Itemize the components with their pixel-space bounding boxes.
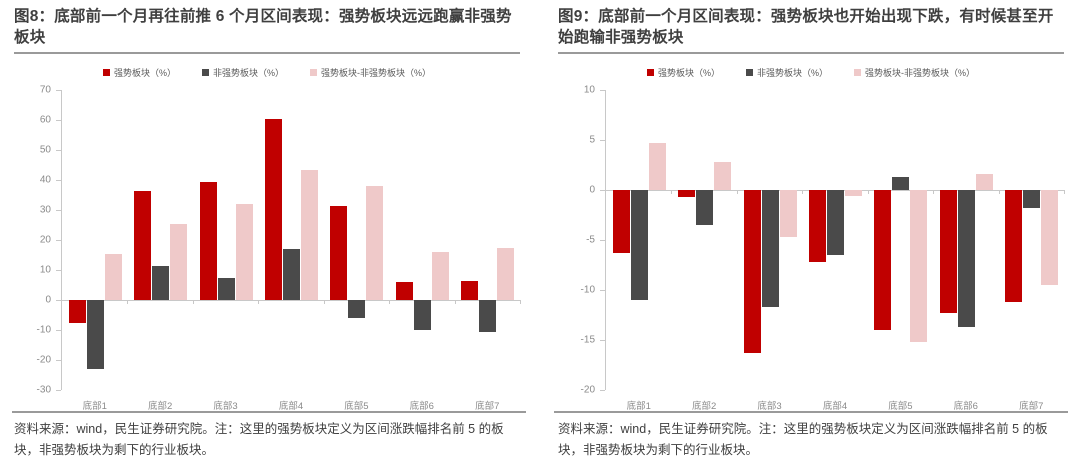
bar[interactable]	[780, 190, 797, 237]
bar-group	[868, 86, 933, 394]
x-axis-label: 底部6	[933, 398, 998, 412]
y-axis-tick-label: -10	[560, 285, 600, 296]
bar[interactable]	[613, 190, 630, 253]
y-axis-tick-mark	[600, 290, 605, 291]
y-axis-tick-mark	[56, 390, 61, 391]
y-axis-tick-label: 20	[16, 235, 56, 246]
y-axis-tick-label: 30	[16, 205, 56, 216]
legend-item-diff[interactable]: 强势板块-非强势板块（%）	[310, 66, 431, 79]
y-axis-tick-label: -15	[560, 335, 600, 346]
bar-group	[62, 86, 127, 394]
bar[interactable]	[330, 206, 347, 301]
y-axis-tick-label: 40	[16, 175, 56, 186]
figure-9-foot-rule	[554, 411, 1068, 413]
bar[interactable]	[366, 186, 383, 300]
bar[interactable]	[283, 249, 300, 300]
figure-9-bars	[606, 86, 1064, 394]
bar[interactable]	[696, 190, 713, 225]
legend-item-diff[interactable]: 强势板块-非强势板块（%）	[854, 66, 975, 79]
bar-group	[324, 86, 389, 394]
bar[interactable]	[301, 170, 318, 301]
y-axis-tick-label: 10	[16, 265, 56, 276]
figure-8-x-labels: 底部1底部2底部3底部4底部5底部6底部7	[62, 398, 520, 412]
x-axis-label: 底部5	[324, 398, 389, 412]
bar[interactable]	[631, 190, 648, 300]
figure-9-plot: 1050-5-10-15-20 底部1底部2底部3底部4底部5底部6底部7	[554, 86, 1068, 394]
bar[interactable]	[762, 190, 779, 307]
x-axis-label: 底部7	[999, 398, 1064, 412]
y-axis-tick-label: -5	[560, 235, 600, 246]
y-axis-tick-mark	[56, 240, 61, 241]
bar[interactable]	[649, 143, 666, 190]
y-axis-tick-label: -30	[16, 385, 56, 396]
bar[interactable]	[827, 190, 844, 255]
y-axis-tick-label: 60	[16, 115, 56, 126]
y-axis-tick-mark	[56, 180, 61, 181]
bar-group	[455, 86, 520, 394]
bar-group	[671, 86, 736, 394]
y-axis-tick-mark	[600, 390, 605, 391]
x-axis-label: 底部5	[868, 398, 933, 412]
legend-item-strong[interactable]: 强势板块（%）	[647, 66, 720, 79]
figure-8-bars	[62, 86, 520, 394]
legend-label-strong: 强势板块（%）	[114, 66, 176, 79]
bar[interactable]	[809, 190, 826, 262]
bar[interactable]	[497, 248, 514, 301]
y-axis-tick-label: 70	[16, 85, 56, 96]
legend-label-diff: 强势板块-非强势板块（%）	[321, 66, 431, 79]
y-axis-tick-mark	[600, 240, 605, 241]
bar[interactable]	[940, 190, 957, 313]
figure-panel-8: 图8：底部前一个月再往前推 6 个月区间表现：强势板块远远跑赢非强势板块 强势板…	[0, 0, 540, 468]
y-axis-tick-label: 5	[560, 135, 600, 146]
x-axis-label: 底部2	[127, 398, 192, 412]
bar[interactable]	[958, 190, 975, 327]
y-axis-tick-mark	[600, 140, 605, 141]
bar[interactable]	[892, 177, 909, 190]
bar[interactable]	[714, 162, 731, 190]
bar-group	[127, 86, 192, 394]
y-axis-tick-label: 50	[16, 145, 56, 156]
figure-8-plot: 706050403020100-10-20-30 底部1底部2底部3底部4底部5…	[10, 86, 524, 394]
y-axis-tick-label: -20	[560, 385, 600, 396]
bar[interactable]	[461, 281, 478, 301]
y-axis-tick-mark	[600, 90, 605, 91]
bar-group	[999, 86, 1064, 394]
x-axis-label: 底部3	[737, 398, 802, 412]
bar-group	[802, 86, 867, 394]
bar[interactable]	[479, 300, 496, 332]
y-axis-tick-label: -20	[16, 355, 56, 366]
bar[interactable]	[105, 254, 122, 301]
bar-group	[933, 86, 998, 394]
bar-group	[193, 86, 258, 394]
figure-panel-9: 图9：底部前一个月区间表现：强势板块也开始出现下跌，有时候甚至开始跑输非强势板块…	[540, 0, 1080, 468]
legend-label-diff: 强势板块-非强势板块（%）	[865, 66, 975, 79]
legend-swatch-strong-icon	[647, 69, 654, 76]
bar[interactable]	[265, 119, 282, 301]
figure-8-source-note: 资料来源：wind，民生证券研究院。注：这里的强势板块定义为区间涨跌幅排名前 5…	[14, 419, 526, 461]
x-axis-label: 底部3	[193, 398, 258, 412]
bar[interactable]	[414, 300, 431, 330]
x-axis-label: 底部6	[389, 398, 454, 412]
x-axis-label: 底部4	[802, 398, 867, 412]
figure-pair-page: 图8：底部前一个月再往前推 6 个月区间表现：强势板块远远跑赢非强势板块 强势板…	[0, 0, 1080, 468]
bar[interactable]	[1005, 190, 1022, 302]
bar[interactable]	[69, 300, 86, 323]
x-axis-tick-mark	[1064, 190, 1065, 194]
bar-group	[258, 86, 323, 394]
legend-swatch-diff-icon	[854, 69, 861, 76]
bar[interactable]	[170, 224, 187, 301]
legend-swatch-strong-icon	[103, 69, 110, 76]
bar[interactable]	[678, 190, 695, 197]
bar[interactable]	[1023, 190, 1040, 208]
bar[interactable]	[134, 191, 151, 301]
y-axis-tick-label: 10	[560, 85, 600, 96]
figure-8-legend: 强势板块（%） 非强势板块（%） 强势板块-非强势板块（%）	[10, 64, 524, 80]
x-axis-label: 底部2	[671, 398, 736, 412]
x-axis-label: 底部4	[258, 398, 323, 412]
legend-label-weak: 非强势板块（%）	[757, 66, 828, 79]
y-axis-tick-mark	[56, 90, 61, 91]
legend-swatch-weak-icon	[746, 69, 753, 76]
y-axis-tick-label: 0	[16, 295, 56, 306]
legend-swatch-weak-icon	[202, 69, 209, 76]
bar[interactable]	[744, 190, 761, 353]
bar[interactable]	[236, 204, 253, 300]
figure-9-source-note: 资料来源：wind，民生证券研究院。注：这里的强势板块定义为区间涨跌幅排名前 5…	[558, 419, 1068, 461]
bar-group	[606, 86, 671, 394]
y-axis-tick-mark	[56, 360, 61, 361]
figure-9-title-rule	[558, 52, 1064, 54]
figure-8-title: 图8：底部前一个月再往前推 6 个月区间表现：强势板块远远跑赢非强势板块	[10, 6, 524, 48]
bar-group	[389, 86, 454, 394]
y-axis-tick-mark	[56, 270, 61, 271]
bar[interactable]	[200, 182, 217, 301]
bar-group	[737, 86, 802, 394]
bar[interactable]	[976, 174, 993, 190]
y-axis-tick-label: -10	[16, 325, 56, 336]
y-axis-tick-mark	[56, 210, 61, 211]
bar[interactable]	[432, 252, 449, 300]
legend-swatch-diff-icon	[310, 69, 317, 76]
legend-item-weak[interactable]: 非强势板块（%）	[746, 66, 828, 79]
x-axis-tick-mark	[520, 300, 521, 304]
legend-item-weak[interactable]: 非强势板块（%）	[202, 66, 284, 79]
figure-9-legend: 强势板块（%） 非强势板块（%） 强势板块-非强势板块（%）	[554, 64, 1068, 80]
y-axis-tick-mark	[56, 150, 61, 151]
y-axis-tick-mark	[56, 120, 61, 121]
bar[interactable]	[87, 300, 104, 369]
legend-item-strong[interactable]: 强势板块（%）	[103, 66, 176, 79]
y-axis-tick-mark	[600, 340, 605, 341]
y-axis-tick-mark	[56, 330, 61, 331]
bar[interactable]	[218, 278, 235, 301]
figure-8-foot-rule	[12, 411, 526, 413]
bar[interactable]	[348, 300, 365, 318]
bar[interactable]	[396, 282, 413, 300]
figure-9-x-labels: 底部1底部2底部3底部4底部5底部6底部7	[606, 398, 1064, 412]
y-axis-tick-label: 0	[560, 185, 600, 196]
x-axis-label: 底部1	[606, 398, 671, 412]
bar[interactable]	[845, 190, 862, 196]
bar[interactable]	[152, 266, 169, 301]
bar[interactable]	[874, 190, 891, 330]
legend-label-weak: 非强势板块（%）	[213, 66, 284, 79]
x-axis-label: 底部7	[455, 398, 520, 412]
bar[interactable]	[1041, 190, 1058, 285]
bar[interactable]	[910, 190, 927, 342]
legend-label-strong: 强势板块（%）	[658, 66, 720, 79]
x-axis-label: 底部1	[62, 398, 127, 412]
figure-8-title-rule	[14, 52, 520, 54]
figure-9-title: 图9：底部前一个月区间表现：强势板块也开始出现下跌，有时候甚至开始跑输非强势板块	[554, 6, 1068, 48]
